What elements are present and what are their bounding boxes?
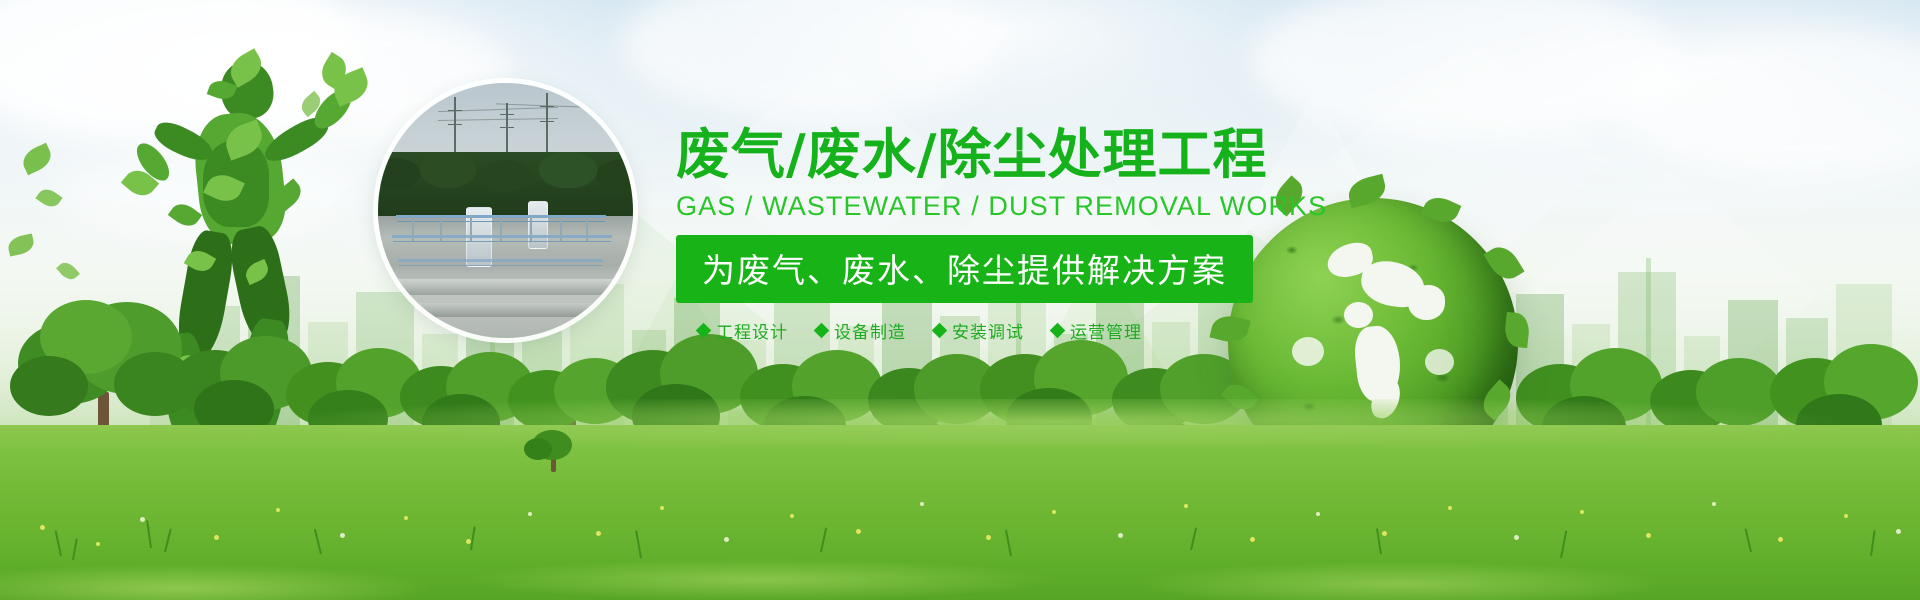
wastewater-plant-photo <box>378 83 633 338</box>
foreground-bush <box>524 424 584 470</box>
diamond-bullet-icon <box>932 323 948 339</box>
hero-banner: 废气/废水/除尘处理工程 GAS / WASTEWATER / DUST REM… <box>0 0 1920 600</box>
banner-copy: 废气/废水/除尘处理工程 GAS / WASTEWATER / DUST REM… <box>676 126 1296 343</box>
list-item-label: 运营管理 <box>1070 318 1142 343</box>
page-title: 废气/废水/除尘处理工程 <box>676 126 1296 184</box>
list-item-label: 设备制造 <box>834 318 906 343</box>
list-item[interactable]: 运营管理 <box>1052 318 1142 343</box>
list-item[interactable]: 设备制造 <box>816 318 906 343</box>
page-subtitle-english: GAS / WASTEWATER / DUST REMOVAL WORKS <box>676 191 1296 222</box>
list-item[interactable]: 安装调试 <box>934 318 1024 343</box>
diamond-bullet-icon <box>1050 323 1066 339</box>
list-item-label: 工程设计 <box>716 318 788 343</box>
list-item[interactable]: 工程设计 <box>698 318 788 343</box>
diamond-bullet-icon <box>696 323 712 339</box>
tagline-ribbon: 为废气、废水、除尘提供解决方案 <box>676 235 1253 303</box>
service-bullet-list: 工程设计 设备制造 安装调试 运营管理 <box>676 318 1296 343</box>
tagline-text: 为废气、废水、除尘提供解决方案 <box>702 251 1227 290</box>
list-item-label: 安装调试 <box>952 318 1024 343</box>
diamond-bullet-icon <box>814 323 830 339</box>
grass-highlight <box>0 480 1920 600</box>
